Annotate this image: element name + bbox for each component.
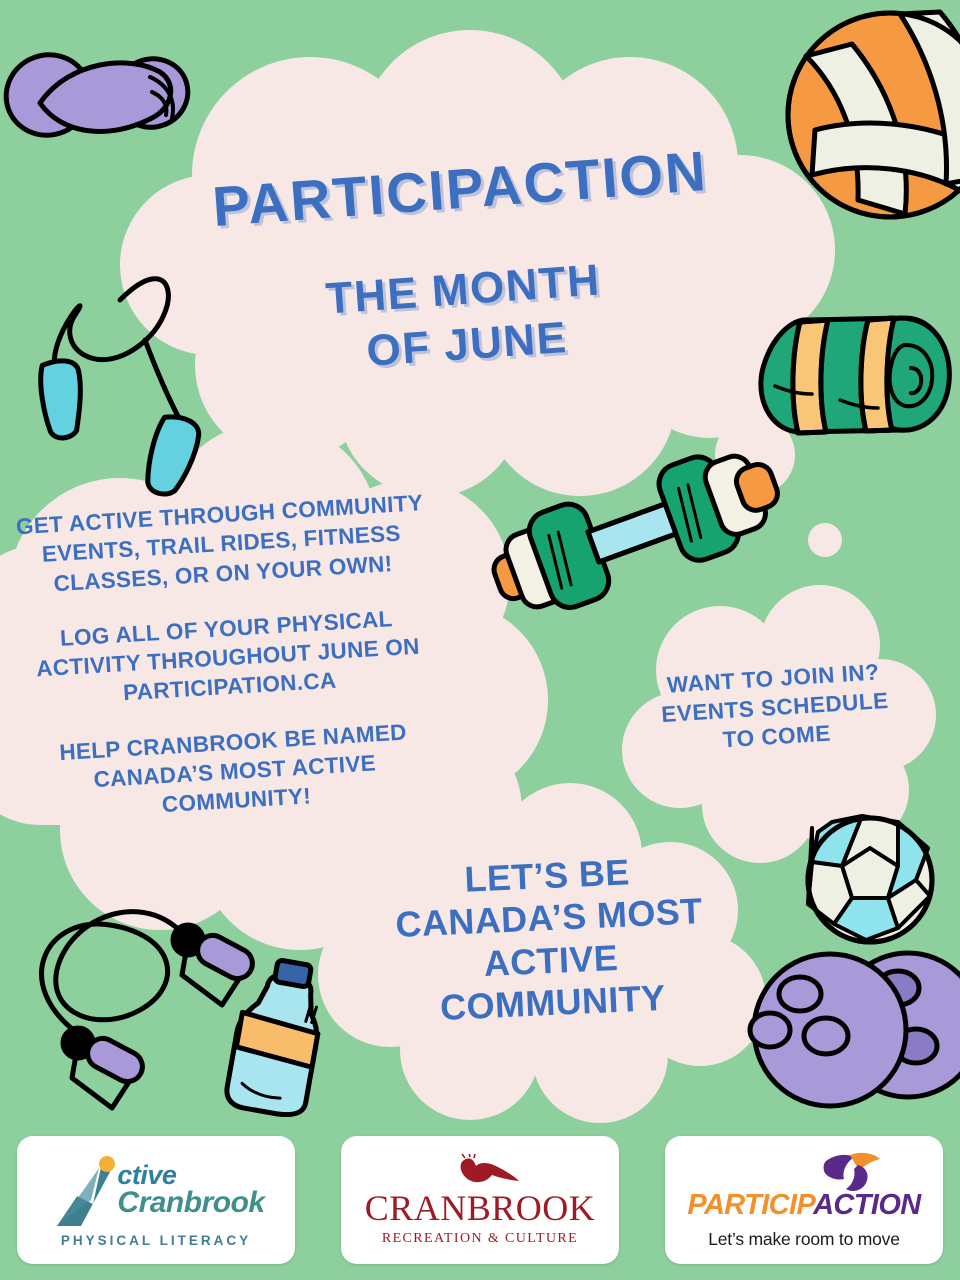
- participaction-swoosh-icon: [816, 1151, 882, 1193]
- eagle-icon: [440, 1154, 520, 1188]
- body-copy: GET ACTIVE THROUGH COMMUNITY EVENTS, TRA…: [9, 488, 447, 828]
- participaction-wordmark: PARTICIPACTION: [687, 1191, 920, 1220]
- slogan-callout: LET’S BE CANADA’S MOST ACTIVE COMMUNITY: [381, 848, 718, 1033]
- logo-active-cranbrook: ctive Cranbrook PHYSICAL LITERACY: [17, 1136, 295, 1264]
- logo-cranbrook-recreation: CRANBROOK RECREATION & CULTURE: [341, 1136, 619, 1264]
- soccer-ball-icon: [808, 816, 932, 942]
- active-cranbrook-tagline: PHYSICAL LITERACY: [61, 1233, 251, 1248]
- bowling-balls-icon: [750, 953, 960, 1106]
- yoga-mat-icon: [761, 318, 949, 433]
- cranbrook-tagline: RECREATION & CULTURE: [382, 1231, 578, 1247]
- body-paragraph-2: LOG ALL OF YOUR PHYSICAL ACTIVITY THROUG…: [16, 601, 440, 714]
- join-callout: WANT TO JOIN IN? EVENTS SCHEDULE TO COME: [648, 657, 903, 759]
- jump-rope-handles: [37, 358, 201, 499]
- volleyball-icon: [788, 12, 960, 217]
- dumbbell-green-icon: [481, 434, 791, 629]
- active-cranbrook-line1: ctive: [117, 1162, 176, 1188]
- poster-canvas: PARTICIPACTION THE MONTH OF JUNE GET ACT…: [0, 0, 960, 1280]
- active-cranbrook-mark-icon: [47, 1152, 121, 1228]
- cranbrook-name: CRANBROOK: [365, 1190, 596, 1226]
- active-cranbrook-line2: Cranbrook: [117, 1188, 264, 1218]
- participaction-tagline: Let’s make room to move: [708, 1229, 900, 1250]
- logo-participaction: PARTICIPACTION Let’s make room to move: [665, 1136, 943, 1264]
- dumbbell-purple-icon: [0, 44, 197, 146]
- participaction-word-orange: PARTICIP: [687, 1189, 813, 1221]
- resistance-band-icon: [42, 912, 188, 1035]
- participaction-word-purple: ACTION: [813, 1189, 921, 1221]
- logo-strip: ctive Cranbrook PHYSICAL LITERACY CRANBR…: [0, 1136, 960, 1264]
